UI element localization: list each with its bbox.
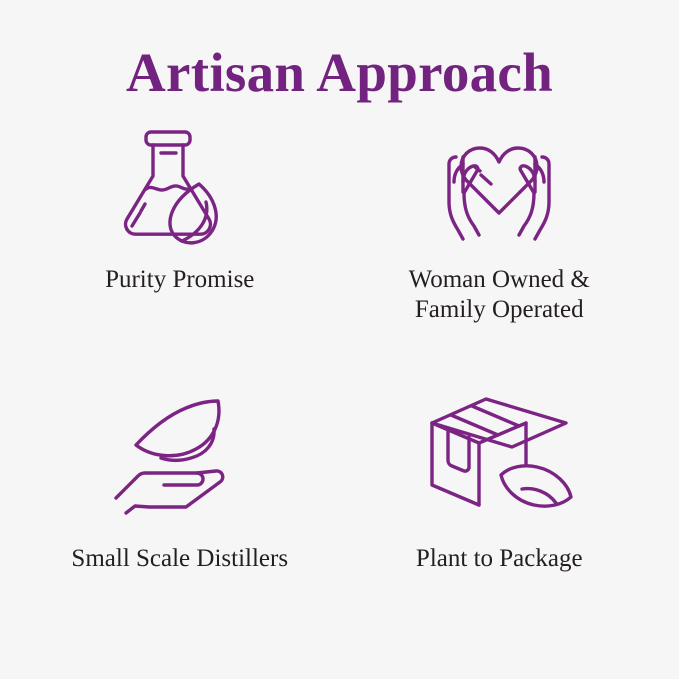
feature-label: Plant to Package xyxy=(416,544,583,574)
feature-item-plant-to-package: Plant to Package xyxy=(340,384,660,649)
feature-item-small-scale-distillers: Small Scale Distillers xyxy=(20,384,340,649)
hands-holding-heart-icon xyxy=(424,120,574,248)
leaf-in-hand-icon xyxy=(105,390,255,518)
flask-leaf-icon xyxy=(105,120,255,248)
artisan-approach-infographic: Artisan Approach xyxy=(0,0,679,679)
feature-grid: Purity Promise xyxy=(0,102,679,679)
page-title: Artisan Approach xyxy=(126,44,553,102)
box-leaf-icon xyxy=(424,390,574,518)
feature-label: Small Scale Distillers xyxy=(71,544,288,574)
feature-label: Purity Promise xyxy=(105,265,254,295)
feature-label: Woman Owned & Family Operated xyxy=(409,265,590,325)
feature-item-woman-owned: Woman Owned & Family Operated xyxy=(340,120,660,385)
feature-item-purity-promise: Purity Promise xyxy=(20,120,340,385)
